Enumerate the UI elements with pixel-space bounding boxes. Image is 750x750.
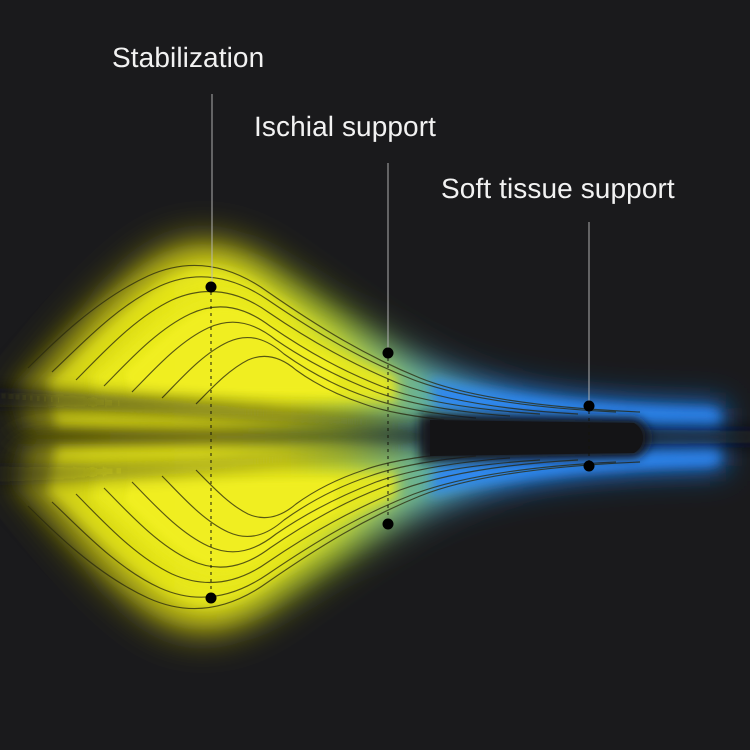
marker-dot-stabilization xyxy=(206,282,217,293)
marker-dot-stabilization-mirror xyxy=(206,593,217,604)
marker-dot-ischial-support-mirror xyxy=(383,519,394,530)
label-ischial-support: Ischial support xyxy=(254,111,436,143)
marker-dot-ischial-support xyxy=(383,348,394,359)
marker-dot-soft-tissue-support xyxy=(584,401,595,412)
pressure-map-figure: Stabilization Ischial support Soft tissu… xyxy=(0,0,750,750)
marker-dot-soft-tissue-support-mirror xyxy=(584,461,595,472)
center-notch xyxy=(420,414,649,462)
label-stabilization: Stabilization xyxy=(112,42,264,74)
label-soft-tissue-support: Soft tissue support xyxy=(441,173,675,205)
